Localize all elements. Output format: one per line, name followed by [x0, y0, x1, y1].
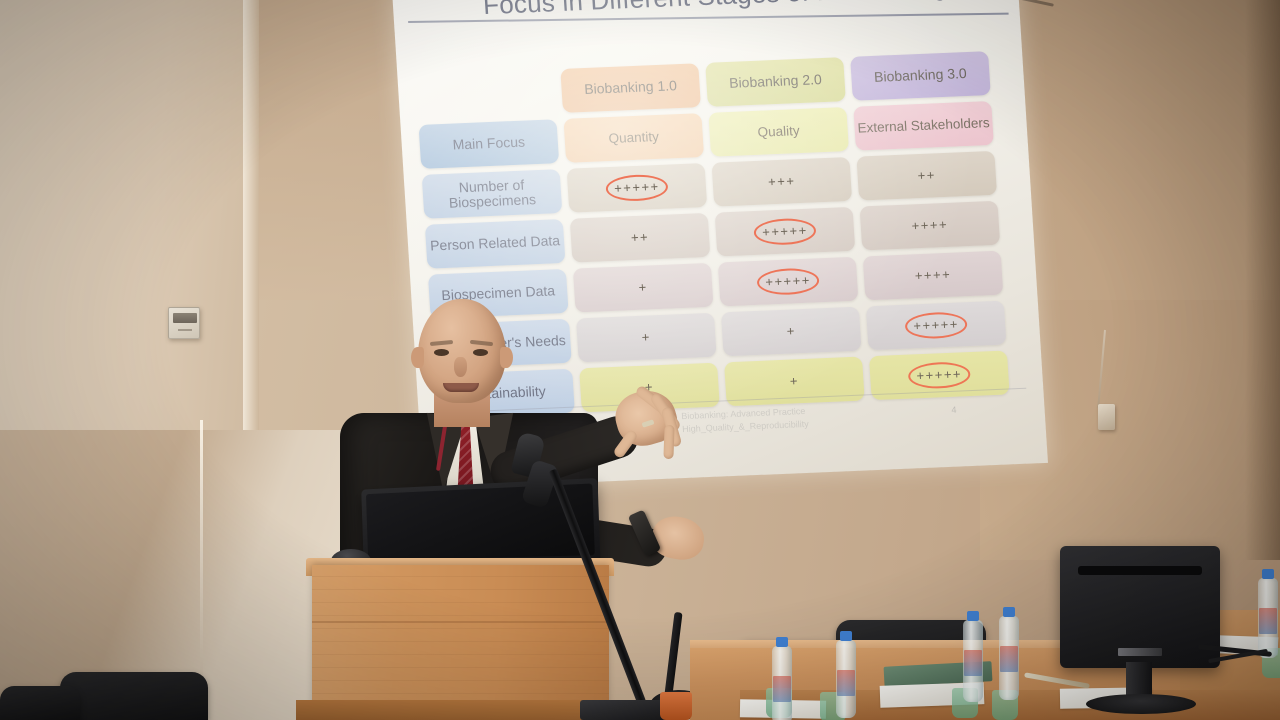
column-header-biobanking-1: Biobanking 1.0: [560, 63, 701, 113]
water-bottle: [836, 640, 856, 718]
thermostat-panel-icon: [168, 307, 200, 339]
cell-value: +++: [768, 174, 796, 189]
water-bottle: [772, 646, 792, 720]
eye-right: [473, 349, 488, 356]
cell-stakeholder-needs-bb3: +++++: [866, 301, 1007, 351]
cell-biospecimens-bb3: ++: [856, 151, 997, 201]
monitor-base: [1086, 694, 1196, 714]
cell-value: ++++: [914, 268, 951, 284]
table-corner-cell: [415, 69, 556, 119]
row-label-number-of-biospecimens: Number of Biospecimens: [422, 169, 563, 219]
podium-trim-line: [312, 621, 609, 623]
cell-stakeholder-needs-bb2: +: [721, 307, 862, 357]
cell-value: +: [638, 280, 648, 295]
cell-value: +++++: [614, 180, 660, 196]
monitor-port-label: [1118, 648, 1162, 656]
podium: [312, 565, 609, 720]
nose: [454, 357, 467, 377]
cell-biospecimens-bb1: +++++: [567, 163, 708, 213]
chair: [0, 686, 80, 720]
ear-right: [500, 347, 513, 368]
cell-value: +++++: [913, 317, 959, 333]
row-label-person-related-data: Person Related Data: [425, 219, 566, 269]
cell-value: +++++: [765, 274, 811, 290]
cell-biospecimen-data-bb2: +++++: [718, 257, 859, 307]
slide-footer: Biobanking: Advanced Practice High_Quali…: [681, 405, 809, 436]
row-label-main-focus: Main Focus: [419, 119, 560, 169]
water-bottle: [963, 620, 983, 702]
cell-main-focus-bb3: External Stakeholders: [853, 101, 994, 151]
cell-person-data-bb2: +++++: [715, 207, 856, 257]
cell-biospecimens-bb2: +++: [711, 157, 852, 207]
mouth: [443, 383, 479, 392]
slide-number: 4: [951, 405, 957, 415]
cell-value: +: [789, 374, 799, 389]
column-header-biobanking-3: Biobanking 3.0: [850, 51, 991, 101]
cell-value: +++++: [916, 367, 962, 383]
cell-value: ++: [917, 168, 936, 183]
cell-value: +++++: [762, 224, 808, 240]
cell-biospecimen-data-bb3: ++++: [863, 251, 1004, 301]
cell-main-focus-bb1: Quantity: [563, 113, 704, 163]
screenshot-root: Focus in Different Stages of Biobanking …: [0, 0, 1280, 720]
wall-corner-shadow: [1245, 0, 1280, 560]
wall-fixture-box: [1098, 404, 1115, 430]
chair: [60, 672, 208, 720]
water-bottle: [1258, 578, 1278, 658]
wood-grain: [312, 565, 609, 720]
cell-person-data-bb3: ++++: [860, 201, 1001, 251]
orange-cup: [660, 692, 692, 720]
column-header-biobanking-2: Biobanking 2.0: [705, 57, 846, 107]
cell-value: ++++: [911, 218, 948, 234]
cell-value: ++: [631, 230, 650, 245]
finger: [663, 425, 674, 459]
water-bottle: [999, 616, 1019, 700]
podium-base: [296, 700, 618, 720]
monitor-vent: [1078, 566, 1202, 575]
cell-main-focus-bb2: Quality: [708, 107, 849, 157]
ear-left: [411, 347, 424, 368]
cell-value: +: [786, 324, 796, 339]
cell-person-data-bb1: ++: [570, 213, 711, 263]
eye-left: [434, 349, 449, 356]
